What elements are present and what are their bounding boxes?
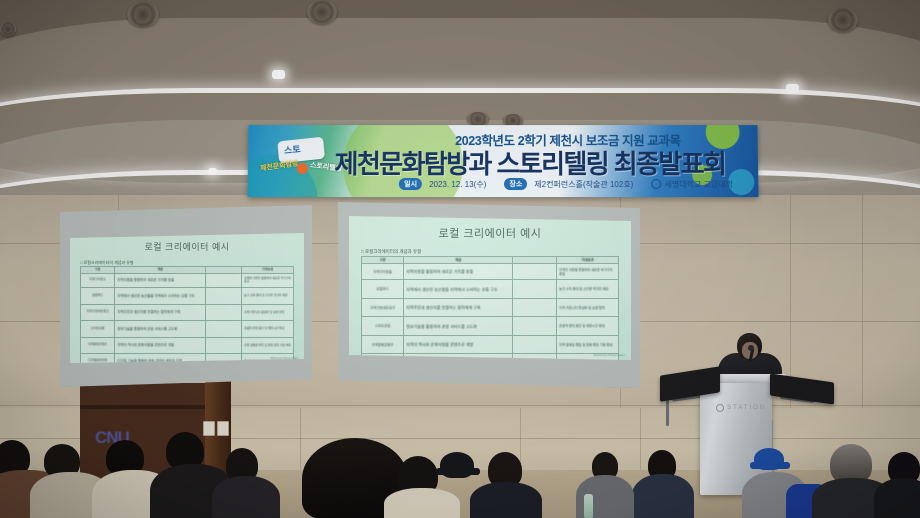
cell-category: 지역문화콘텐츠 bbox=[362, 342, 403, 348]
logo-badge-text: 스토 bbox=[283, 142, 301, 157]
banner-organizer-text: 세명대학교 교양대학 bbox=[664, 179, 733, 190]
cell-effect: 지역의 자원을 활용하여 새로운 부가가치 창출 bbox=[242, 276, 293, 285]
banner-title: 제천문화탐방과 스토리텔링 최종발표회 bbox=[306, 144, 755, 181]
wall-outlet[interactable] bbox=[217, 421, 229, 436]
banner-place: 제2컨퍼런스홀(작술관 102호) bbox=[534, 179, 633, 190]
university-emblem-icon bbox=[651, 179, 661, 189]
th-concept: 개념 bbox=[404, 257, 512, 263]
table-row: 지역가치창출 지역자원을 활용하여 새로운 가치를 창출 지역의 자원을 활용하… bbox=[362, 264, 619, 280]
slide-footer: Reference Presentation bbox=[593, 353, 625, 357]
table-body: 지역가치창출 지역자원을 활용하여 새로운 가치를 창출 지역의 자원을 활용하… bbox=[81, 273, 294, 363]
banner-date: 2023. 12. 13(수) bbox=[429, 179, 486, 190]
logo-left-text: 제천문화탐방 bbox=[259, 158, 299, 173]
table-header-row: 구분 개념 기대효과 bbox=[81, 267, 294, 274]
cell-concept: 디지털 기술을 활용한 문화 콘텐츠 제작과 유통 bbox=[404, 359, 512, 360]
cell-concept: 지역자원을 활용하여 새로운 가치를 창출 bbox=[115, 277, 205, 283]
slide-footer: Reference Presentation bbox=[271, 357, 298, 360]
ceiling-vent bbox=[0, 22, 16, 36]
slide-subtitle: □ 로컬크리에이터의 개념과 유형 bbox=[361, 249, 421, 255]
cell-category: 지역문화콘텐츠 bbox=[81, 342, 114, 348]
banner-details: 일시 2023. 12. 13(수) 장소 제2컨퍼런스홀(작술관 102호) … bbox=[366, 178, 759, 190]
slide-title: 로컬 크리에이터 예시 bbox=[70, 240, 304, 253]
cell-effect: 지역 정체성 확립 및 문화 향유 기회 확대 bbox=[557, 342, 618, 348]
left-projection-screen: 로컬 크리에이터 예시 □ 로컬크리에이터의 개념과 유형 구분 개념 기대효과… bbox=[60, 205, 312, 387]
th-effect: 기대효과 bbox=[242, 267, 293, 273]
table-row: 지역문화콘텐츠 지역의 역사와 문화자원을 콘텐츠로 개발 지역 정체성 확립 … bbox=[362, 336, 619, 354]
table-row: 로컬푸드 지역에서 생산된 농산물을 지역에서 소비하는 유통 구조 농가 소득… bbox=[81, 287, 294, 304]
podium-brand-icon bbox=[716, 404, 724, 412]
cell-concept: 지역의 역사와 문화자원을 콘텐츠로 개발 bbox=[115, 342, 205, 348]
table-row: 스마트관광 정보기술을 활용하여 관광 서비스를 고도화 관광객 편의 증진 및… bbox=[362, 317, 619, 336]
ceiling-spotlight bbox=[208, 168, 217, 174]
right-slide: 로컬 크리에이터 예시 □ 로컬크리에이터의 개념과 유형 구분 개념 기대효과… bbox=[349, 216, 631, 360]
cell-effect: 관광객 편의 증진 및 체류시간 확대 bbox=[557, 323, 618, 329]
water-bottle[interactable] bbox=[584, 494, 593, 518]
table-row: 지역기반네트워크 지역주민과 생산자를 연결하는 협력체계 구축 지역 커뮤니티… bbox=[362, 299, 619, 317]
audience-shoulders bbox=[470, 482, 542, 518]
ceiling-vent bbox=[127, 2, 159, 27]
cell-concept: 지역의 역사와 문화자원을 콘텐츠로 개발 bbox=[404, 341, 512, 348]
cell-category: 디지털문화전환 bbox=[81, 358, 114, 363]
banner-organizer: 세명대학교 교양대학 bbox=[651, 179, 733, 190]
cell-concept: 지역자원을 활용하여 새로운 가치를 창출 bbox=[404, 268, 512, 275]
left-slide: 로컬 크리에이터 예시 □ 로컬크리에이터의 개념과 유형 구분 개념 기대효과… bbox=[70, 233, 304, 363]
slide-table: 구분 개념 기대효과 지역가치창출 지역자원을 활용하여 새로운 가치를 창출 … bbox=[80, 266, 294, 363]
cell-effect: 농가 소득 증대 및 신선한 먹거리 제공 bbox=[557, 286, 618, 292]
auditorium-photo: CNU 스토 제천문화탐방 스토리텔링 2023학년도 2학기 제천시 보조금 … bbox=[0, 0, 920, 518]
cell-concept: 정보기술을 활용하여 관광 서비스를 고도화 bbox=[404, 323, 512, 330]
ceiling-vent bbox=[467, 112, 489, 126]
table-body: 지역가치창출 지역자원을 활용하여 새로운 가치를 창출 지역의 자원을 활용하… bbox=[362, 264, 619, 360]
cell-concept: 지역에서 생산된 농산물을 지역에서 소비하는 유통 구조 bbox=[404, 286, 512, 293]
table-row: 지역문화콘텐츠 지역의 역사와 문화자원을 콘텐츠로 개발 지역 정체성 확립 … bbox=[81, 337, 294, 353]
table-row: 스마트관광 정보기술을 활용하여 관광 서비스를 고도화 관광객 편의 증진 및… bbox=[81, 320, 294, 337]
cell-category: 지역기반네트워크 bbox=[362, 305, 403, 311]
audience-shoulders bbox=[874, 478, 920, 518]
podium-brand-text: STATION bbox=[727, 405, 766, 411]
th-effect: 기대효과 bbox=[557, 257, 618, 263]
cell-category: 스마트관광 bbox=[362, 323, 403, 329]
audience-shoulders bbox=[632, 474, 694, 518]
th-category: 구분 bbox=[81, 267, 114, 273]
table-row: 지역기반네트워크 지역주민과 생산자를 연결하는 협력체계 구축 지역 커뮤니티… bbox=[81, 304, 294, 320]
cell-effect: 지역의 자원을 활용하여 새로운 부가가치 창출 bbox=[557, 267, 618, 277]
cell-category: 지역가치창출 bbox=[81, 277, 114, 283]
ceiling-spotlight bbox=[786, 84, 799, 93]
ceiling-vent bbox=[307, 0, 337, 24]
table-row: 로컬푸드 지역에서 생산된 농산물을 지역에서 소비하는 유통 구조 농가 소득… bbox=[362, 280, 619, 299]
wall-outlet[interactable] bbox=[203, 421, 215, 436]
cell-concept: 지역주민과 생산자를 연결하는 협력체계 구축 bbox=[404, 304, 512, 311]
microphone-head-icon bbox=[748, 345, 754, 351]
right-projection-screen: 로컬 크리에이터 예시 □ 로컬크리에이터의 개념과 유형 구분 개념 기대효과… bbox=[338, 202, 640, 388]
cell-concept: 지역에서 생산된 농산물을 지역에서 소비하는 유통 구조 bbox=[115, 293, 205, 299]
audience-shoulders bbox=[212, 476, 280, 518]
cap-brim bbox=[750, 462, 790, 469]
table-row: 디지털문화전환 디지털 기술을 활용한 문화 콘텐츠 제작과 유통 온라인 접근… bbox=[362, 354, 619, 360]
cell-effect: 농가 소득 증대 및 신선한 먹거리 제공 bbox=[242, 293, 293, 298]
ceiling-spotlight bbox=[272, 70, 285, 79]
cell-concept: 디지털 기술을 활용한 문화 콘텐츠 제작과 유통 bbox=[115, 358, 205, 363]
cell-effect: 지역 커뮤니티 활성화 및 상생 협력 bbox=[242, 310, 293, 315]
cell-concept: 지역주민과 생산자를 연결하는 협력체계 구축 bbox=[115, 309, 205, 315]
cell-effect: 지역 정체성 확립 및 문화 향유 기회 확대 bbox=[242, 343, 293, 348]
cell-effect: 관광객 편의 증진 및 체류시간 확대 bbox=[242, 326, 293, 331]
slide-table: 구분 개념 기대효과 지역가치창출 지역자원을 활용하여 새로운 가치를 창출 … bbox=[361, 256, 619, 360]
cell-category: 지역기반네트워크 bbox=[81, 309, 114, 315]
cap-brim bbox=[436, 468, 480, 475]
slide-title: 로컬 크리에이터 예시 bbox=[349, 225, 631, 241]
date-badge: 일시 bbox=[399, 178, 422, 190]
place-badge: 장소 bbox=[504, 178, 527, 190]
podium-brand: STATION bbox=[716, 404, 766, 412]
table-row: 디지털문화전환 디지털 기술을 활용한 문화 콘텐츠 제작과 유통 온라인 접근… bbox=[81, 353, 294, 363]
th-concept: 개념 bbox=[115, 267, 205, 273]
th-category: 구분 bbox=[362, 257, 403, 263]
cell-category: 스마트관광 bbox=[81, 326, 114, 332]
ceiling-vent bbox=[828, 8, 858, 32]
cell-concept: 정보기술을 활용하여 관광 서비스를 고도화 bbox=[115, 326, 205, 332]
table-header-row: 구분 개념 기대효과 bbox=[362, 257, 619, 264]
cell-category: 지역가치창출 bbox=[362, 269, 403, 275]
cell-effect: 지역 커뮤니티 활성화 및 상생 협력 bbox=[557, 305, 618, 311]
cell-category: 로컬푸드 bbox=[362, 286, 403, 292]
cell-category: 로컬푸드 bbox=[81, 293, 114, 299]
audience-shoulders bbox=[384, 488, 460, 518]
event-banner: 스토 제천문화탐방 스토리텔링 2023학년도 2학기 제천시 보조금 지원 교… bbox=[247, 125, 758, 197]
table-row: 지역가치창출 지역자원을 활용하여 새로운 가치를 창출 지역의 자원을 활용하… bbox=[81, 273, 294, 287]
